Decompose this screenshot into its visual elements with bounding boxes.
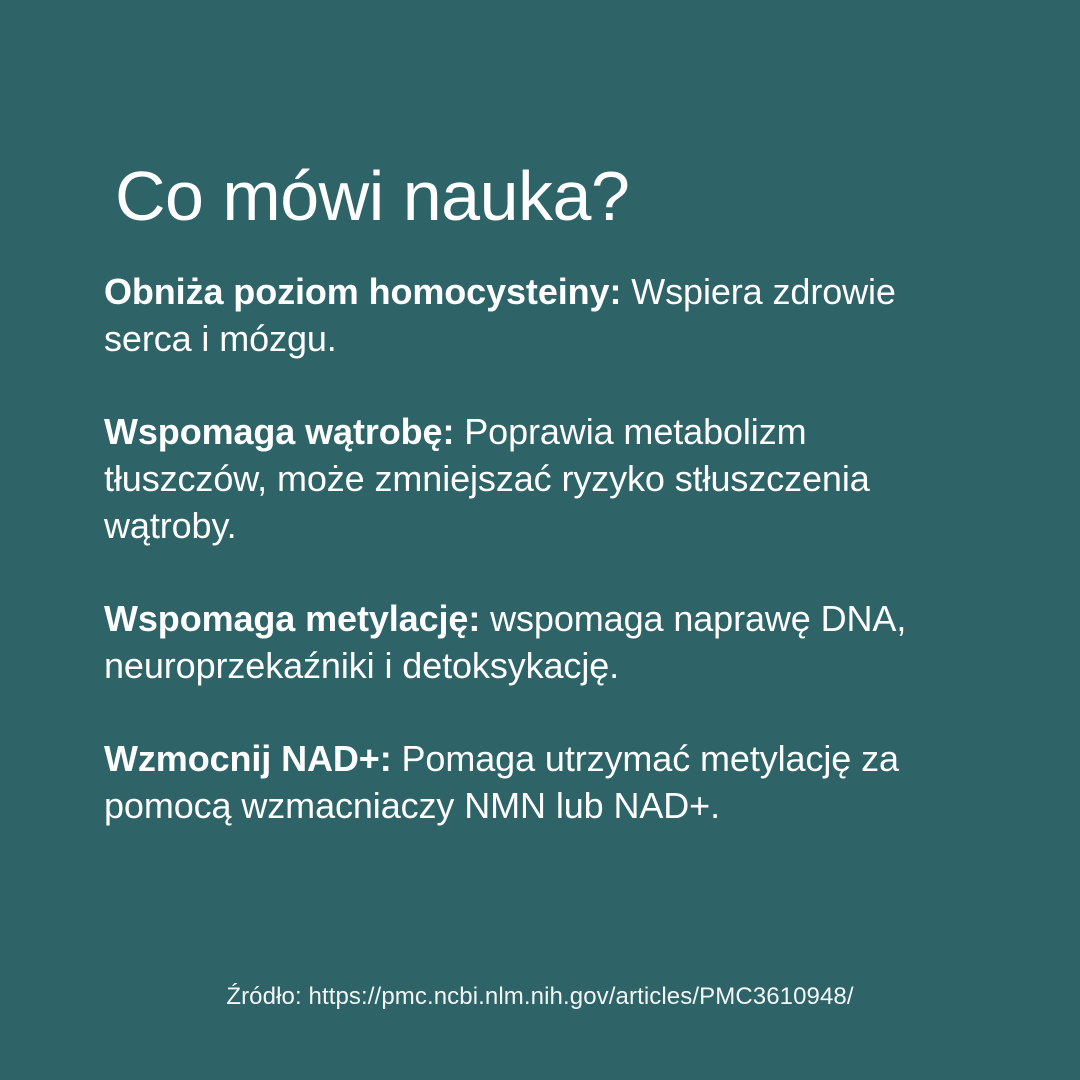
- list-item: Obniża poziom homocysteiny: Wspiera zdro…: [104, 268, 914, 362]
- source-citation: Źródło: https://pmc.ncbi.nlm.nih.gov/art…: [0, 981, 1080, 1013]
- list-item-lead: Wspomaga wątrobę:: [104, 411, 454, 452]
- list-item-lead: Wspomaga metylację:: [104, 598, 480, 639]
- list-item: Wzmocnij NAD+: Pomaga utrzymać metylację…: [104, 735, 914, 829]
- slide-canvas: Co mówi nauka? Obniża poziom homocystein…: [0, 0, 1080, 1080]
- list-item-lead: Wzmocnij NAD+:: [104, 738, 392, 779]
- benefits-list: Obniża poziom homocysteiny: Wspiera zdro…: [104, 268, 914, 829]
- page-title: Co mówi nauka?: [115, 154, 629, 238]
- list-item-lead: Obniża poziom homocysteiny:: [104, 271, 621, 312]
- list-item: Wspomaga wątrobę: Poprawia metabolizm tł…: [104, 408, 914, 549]
- list-item: Wspomaga metylację: wspomaga naprawę DNA…: [104, 595, 914, 689]
